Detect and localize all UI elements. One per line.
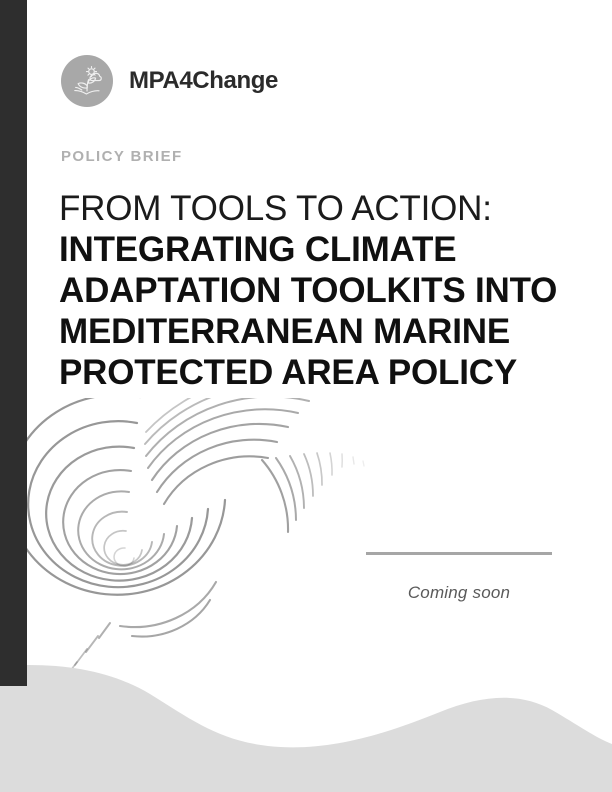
title-line-1: FROM TOOLS TO ACTION:: [59, 188, 579, 229]
plant-sprout-in-hand-with-sun-and-cloud-icon: [70, 64, 104, 98]
left-accent-bar: [0, 0, 27, 686]
brand-name: MPA4Change: [129, 67, 278, 95]
status-divider-rule: [366, 552, 552, 555]
brand-logo-mark: [61, 55, 113, 107]
status-label: Coming soon: [366, 583, 552, 603]
document-page: MPA4Change POLICY BRIEF FROM TOOLS TO AC…: [0, 0, 612, 792]
fingerprint-spiral-decoration: [14, 398, 384, 698]
status-block: Coming soon: [366, 552, 552, 603]
title-line-3: ADAPTATION TOOLKITS INTO: [59, 270, 579, 311]
title-line-4: MEDITERRANEAN MARINE: [59, 311, 579, 352]
bottom-wave-decoration: [0, 632, 612, 792]
policy-brief-eyebrow-label: POLICY BRIEF: [61, 148, 183, 165]
document-title: FROM TOOLS TO ACTION: INTEGRATING CLIMAT…: [59, 188, 579, 393]
brand-header: MPA4Change: [61, 55, 278, 107]
title-line-2: INTEGRATING CLIMATE: [59, 229, 579, 270]
title-line-5: PROTECTED AREA POLICY: [59, 352, 579, 393]
